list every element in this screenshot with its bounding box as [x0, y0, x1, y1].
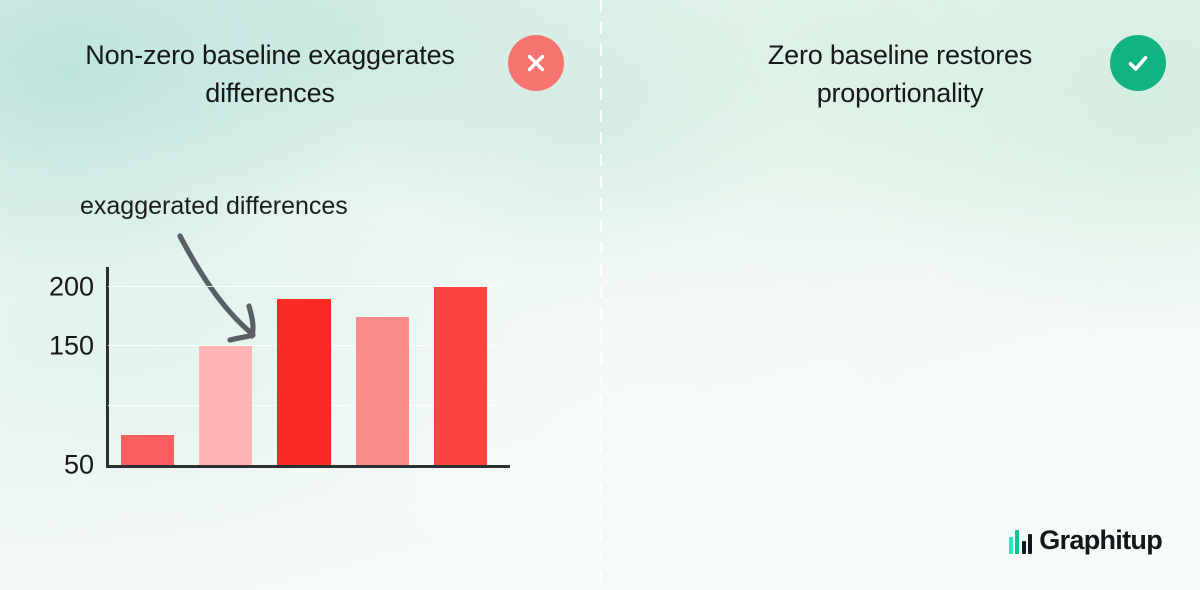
annotation-label: exaggerated differences — [80, 192, 348, 221]
bar-slot — [343, 275, 421, 465]
bar — [356, 317, 409, 465]
plot-area-left: 50150200 — [108, 275, 500, 465]
logo-bar — [1009, 537, 1013, 554]
y-tick-label: 200 — [49, 271, 94, 302]
bar — [434, 287, 487, 465]
bar — [277, 299, 330, 465]
y-tick-label: 50 — [64, 450, 94, 481]
chart-non-zero-baseline: 50150200 — [108, 275, 500, 465]
bar — [121, 435, 174, 465]
page-title-left: Non-zero baseline exaggerates difference… — [60, 36, 480, 113]
logo-bar — [1022, 541, 1026, 554]
bar-slot — [265, 275, 343, 465]
logo-bar — [1015, 530, 1019, 554]
y-tick-label: 150 — [49, 331, 94, 362]
cross-icon — [523, 50, 549, 76]
bar-series-left — [108, 275, 500, 465]
page-title-right: Zero baseline restores proportionality — [700, 36, 1100, 113]
bar-slot — [186, 275, 264, 465]
status-badge-bad — [508, 35, 564, 91]
panel-good-example: Zero baseline restores proportionality 0… — [600, 0, 1200, 590]
logo-bar — [1028, 534, 1032, 554]
check-icon — [1123, 48, 1153, 78]
x-axis-left — [106, 465, 510, 468]
bar-slot — [108, 275, 186, 465]
brand-logo: Graphitup — [1009, 525, 1162, 556]
bar — [199, 346, 252, 465]
bar-chart-logo-icon — [1009, 528, 1033, 554]
status-badge-good — [1110, 35, 1166, 91]
brand-name: Graphitup — [1039, 525, 1162, 556]
panel-bad-example: Non-zero baseline exaggerates difference… — [0, 0, 600, 590]
bar-slot — [422, 275, 500, 465]
